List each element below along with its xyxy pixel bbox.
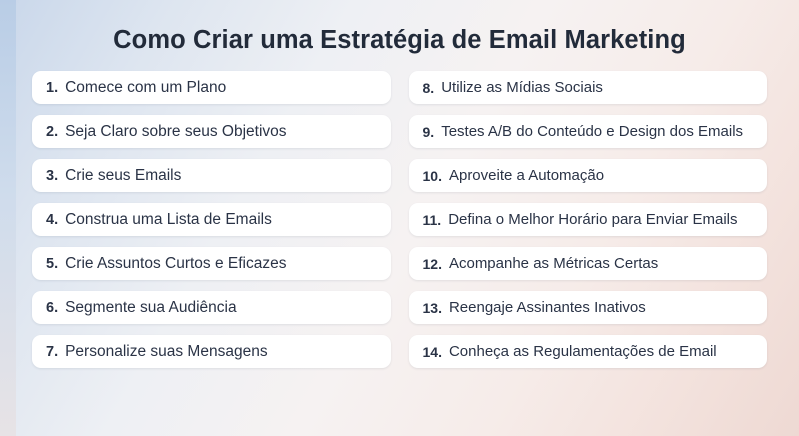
- list-item: 4. Construa uma Lista de Emails: [32, 203, 391, 236]
- list-item-number: 8.: [423, 80, 435, 96]
- list-item: 3. Crie seus Emails: [32, 159, 391, 192]
- page-title: Como Criar uma Estratégia de Email Marke…: [18, 26, 781, 55]
- list-item: 9. Testes A/B do Conteúdo e Design dos E…: [409, 115, 768, 148]
- list-item-label: Utilize as Mídias Sociais: [441, 79, 603, 96]
- list-item-label: Reengaje Assinantes Inativos: [449, 299, 646, 316]
- list-item-label: Crie seus Emails: [65, 167, 181, 185]
- list-item-label: Testes A/B do Conteúdo e Design dos Emai…: [441, 123, 743, 140]
- list-item-number: 13.: [423, 300, 442, 316]
- list-item-number: 6.: [46, 300, 58, 316]
- list-item: 5. Crie Assuntos Curtos e Eficazes: [32, 247, 391, 280]
- list-item-label: Defina o Melhor Horário para Enviar Emai…: [448, 211, 737, 228]
- list-item: 10. Aproveite a Automação: [409, 159, 768, 192]
- list-item: 11. Defina o Melhor Horário para Enviar …: [409, 203, 768, 236]
- list-item-label: Acompanhe as Métricas Certas: [449, 255, 658, 272]
- list-item: 1. Comece com um Plano: [32, 71, 391, 104]
- list-item-number: 10.: [423, 168, 442, 184]
- checklist-columns: 1. Comece com um Plano 2. Seja Claro sob…: [18, 71, 781, 368]
- list-item-label: Comece com um Plano: [65, 79, 226, 97]
- list-item: 13. Reengaje Assinantes Inativos: [409, 291, 768, 324]
- list-item: 7. Personalize suas Mensagens: [32, 335, 391, 368]
- list-item-number: 14.: [423, 344, 442, 360]
- left-column: 1. Comece com um Plano 2. Seja Claro sob…: [32, 71, 391, 368]
- list-item-number: 1.: [46, 80, 58, 96]
- list-item: 12. Acompanhe as Métricas Certas: [409, 247, 768, 280]
- list-item-number: 12.: [423, 256, 442, 272]
- list-item-number: 5.: [46, 256, 58, 272]
- list-item-number: 4.: [46, 212, 58, 228]
- list-item: 6. Segmente sua Audiência: [32, 291, 391, 324]
- list-item: 2. Seja Claro sobre seus Objetivos: [32, 115, 391, 148]
- list-item-number: 7.: [46, 344, 58, 360]
- list-item: 8. Utilize as Mídias Sociais: [409, 71, 768, 104]
- list-item-number: 3.: [46, 168, 58, 184]
- list-item-label: Construa uma Lista de Emails: [65, 211, 272, 229]
- right-column: 8. Utilize as Mídias Sociais 9. Testes A…: [409, 71, 768, 368]
- list-item-number: 9.: [423, 124, 435, 140]
- list-item-label: Segmente sua Audiência: [65, 299, 236, 317]
- list-item-number: 2.: [46, 124, 58, 140]
- list-item-number: 11.: [423, 212, 442, 228]
- list-item-label: Seja Claro sobre seus Objetivos: [65, 123, 286, 141]
- list-item: 14. Conheça as Regulamentações de Email: [409, 335, 768, 368]
- list-item-label: Crie Assuntos Curtos e Eficazes: [65, 255, 286, 273]
- list-item-label: Personalize suas Mensagens: [65, 343, 267, 361]
- list-item-label: Conheça as Regulamentações de Email: [449, 343, 717, 360]
- list-item-label: Aproveite a Automação: [449, 167, 604, 184]
- poster: Como Criar uma Estratégia de Email Marke…: [0, 0, 799, 436]
